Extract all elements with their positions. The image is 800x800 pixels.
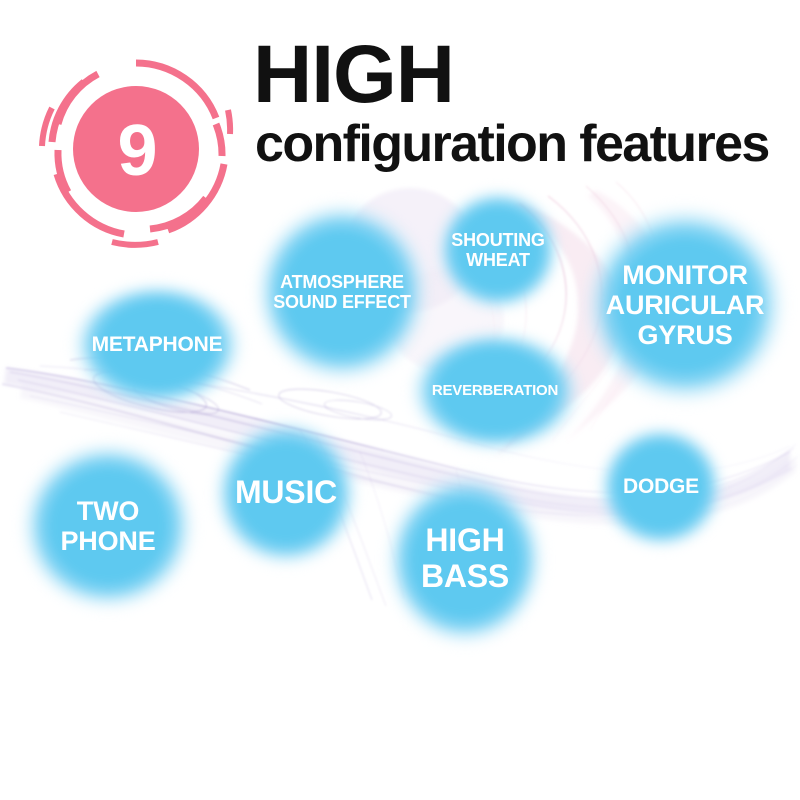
feature-bubble-label: ATMOSPHERE SOUND EFFECT xyxy=(269,272,415,312)
infographic-poster: 9 HIGH configuration features METAPHONEA… xyxy=(0,0,800,800)
feature-bubble-music[interactable]: MUSIC xyxy=(222,428,350,558)
feature-bubble-high-bass[interactable]: HIGH BASS xyxy=(395,484,535,634)
feature-bubble-metaphone[interactable]: METAPHONE xyxy=(82,289,232,401)
feature-bubble-label: SHOUTING WHEAT xyxy=(447,230,548,270)
feature-bubble-label: DODGE xyxy=(619,475,703,499)
feature-bubble-monitor-auricular-gyrus[interactable]: MONITOR AURICULAR GYRUS xyxy=(597,219,773,391)
feature-bubble-shouting-wheat[interactable]: SHOUTING WHEAT xyxy=(443,196,553,304)
feature-bubble-label: METAPHONE xyxy=(88,333,227,357)
feature-bubble-reverberation[interactable]: REVERBERATION xyxy=(420,337,570,445)
feature-bubble-label: MONITOR AURICULAR GYRUS xyxy=(602,260,769,351)
feature-bubble-field: METAPHONEATMOSPHERE SOUND EFFECTSHOUTING… xyxy=(0,0,800,800)
feature-bubble-label: TWO PHONE xyxy=(56,496,159,556)
feature-bubble-atmosphere-sound-effect[interactable]: ATMOSPHERE SOUND EFFECT xyxy=(266,213,418,371)
feature-bubble-label: HIGH BASS xyxy=(417,523,513,595)
feature-bubble-label: MUSIC xyxy=(231,475,341,511)
feature-bubble-dodge[interactable]: DODGE xyxy=(605,432,717,542)
feature-bubble-two-phone[interactable]: TWO PHONE xyxy=(32,452,184,600)
feature-bubble-label: REVERBERATION xyxy=(428,383,562,400)
